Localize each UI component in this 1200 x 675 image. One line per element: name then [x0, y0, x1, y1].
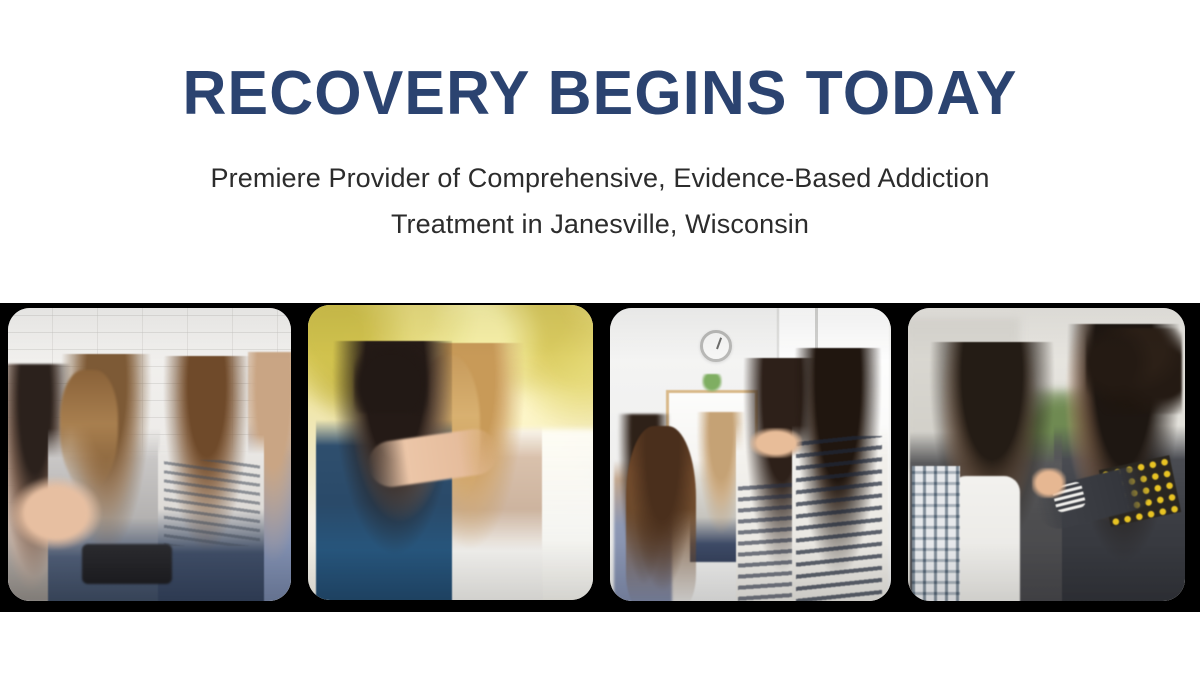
- hand-on-shoulder: [1032, 468, 1066, 498]
- white-t-shirt: [950, 476, 1020, 601]
- plaid-shirt: [912, 466, 960, 601]
- long-hair: [60, 370, 118, 490]
- striped-shirt-pattern: [164, 460, 260, 546]
- dark-curly-hair: [354, 347, 428, 413]
- photo-two-friends-laughing: [908, 308, 1185, 601]
- curly-hair: [1086, 328, 1182, 414]
- subtitle-line-2: Treatment in Janesville, Wisconsin: [140, 201, 1060, 247]
- hand-on-shoulder: [750, 428, 802, 458]
- wall-clock-icon: [700, 330, 732, 362]
- photo-group-therapy: [8, 308, 291, 601]
- person-foreground-left: [626, 426, 696, 601]
- subtitle-line-1: Premiere Provider of Comprehensive, Evid…: [140, 155, 1060, 201]
- gallery-card-women-hugging[interactable]: [610, 308, 891, 601]
- gallery-card-men-laughing[interactable]: [908, 308, 1185, 601]
- potted-plant: [702, 374, 722, 392]
- photo-support-group-hug: [610, 308, 891, 601]
- footer-whitespace: [0, 612, 1200, 675]
- gallery-card-couple-embracing[interactable]: [308, 305, 593, 600]
- page-title: RECOVERY BEGINS TODAY: [12, 61, 1188, 127]
- hero-text-section: RECOVERY BEGINS TODAY Premiere Provider …: [0, 0, 1200, 303]
- striped-sweater-pattern-front: [796, 436, 882, 601]
- notebook-on-lap: [82, 544, 172, 584]
- gallery-card-group-therapy[interactable]: [8, 308, 291, 601]
- hero-banner-page: RECOVERY BEGINS TODAY Premiere Provider …: [0, 0, 1200, 675]
- page-subtitle: Premiere Provider of Comprehensive, Evid…: [140, 155, 1060, 247]
- clapping-hands: [10, 476, 102, 550]
- photo-gallery-strip: [0, 303, 1200, 612]
- photo-couple-outdoors: [308, 305, 593, 600]
